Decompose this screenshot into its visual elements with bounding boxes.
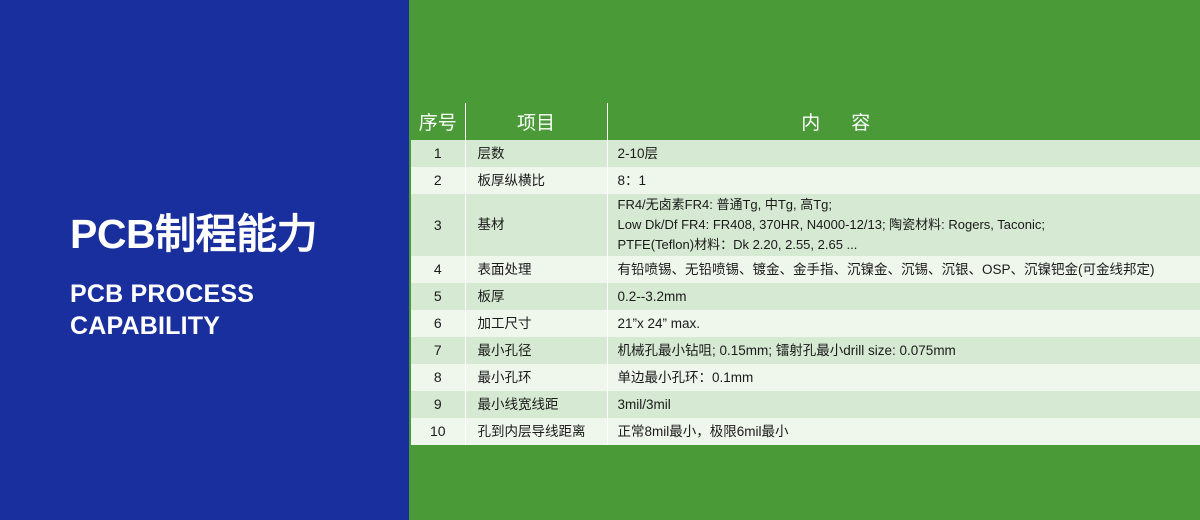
column-header-no: 序号 <box>411 103 465 140</box>
row-no: 9 <box>411 391 465 418</box>
row-no: 1 <box>411 140 465 167</box>
row-content: 21”x 24” max. <box>607 310 1200 337</box>
row-no: 7 <box>411 337 465 364</box>
table-row: 4 表面处理 有铅喷锡、无铅喷锡、镀金、金手指、沉镍金、沉锡、沉银、OSP、沉镍… <box>411 256 1200 283</box>
row-content: FR4/无卤素FR4: 普通Tg, 中Tg, 高Tg; Low Dk/Df FR… <box>607 194 1200 256</box>
row-item: 基材 <box>465 194 607 256</box>
row-item: 最小孔环 <box>465 364 607 391</box>
table-body: 1 层数 2-10层 2 板厚纵横比 8：1 3 基材 FR4/无卤素FR4: … <box>411 140 1200 445</box>
row-item: 层数 <box>465 140 607 167</box>
row-item: 孔到内层导线距离 <box>465 418 607 445</box>
left-blue-panel: PCB制程能力 PCB PROCESS CAPABILITY <box>0 0 409 520</box>
title-block: PCB制程能力 PCB PROCESS CAPABILITY <box>70 213 400 342</box>
row-item: 最小孔径 <box>465 337 607 364</box>
row-no: 4 <box>411 256 465 283</box>
row-no: 3 <box>411 194 465 256</box>
row-no: 10 <box>411 418 465 445</box>
row-item: 板厚纵横比 <box>465 167 607 194</box>
page-title: PCB制程能力 <box>70 213 400 256</box>
slide-canvas: PCB制程能力 PCB PROCESS CAPABILITY 序号 项目 内 容 <box>0 0 1200 520</box>
page-subtitle-line-1: PCB PROCESS <box>70 278 400 310</box>
table-header: 序号 项目 内 容 <box>411 103 1200 140</box>
row-content: 8：1 <box>607 167 1200 194</box>
row-no: 8 <box>411 364 465 391</box>
column-header-content: 内 容 <box>607 103 1200 140</box>
table-header-row: 序号 项目 内 容 <box>411 103 1200 140</box>
table-row: 6 加工尺寸 21”x 24” max. <box>411 310 1200 337</box>
row-no: 6 <box>411 310 465 337</box>
table-row: 5 板厚 0.2--3.2mm <box>411 283 1200 310</box>
table-row: 9 最小线宽线距 3mil/3mil <box>411 391 1200 418</box>
table-row: 3 基材 FR4/无卤素FR4: 普通Tg, 中Tg, 高Tg; Low Dk/… <box>411 194 1200 256</box>
row-content: 单边最小孔环：0.1mm <box>607 364 1200 391</box>
table-row: 1 层数 2-10层 <box>411 140 1200 167</box>
table-row: 8 最小孔环 单边最小孔环：0.1mm <box>411 364 1200 391</box>
row-item: 板厚 <box>465 283 607 310</box>
row-content: 正常8mil最小，极限6mil最小 <box>607 418 1200 445</box>
row-content: 机械孔最小钻咀; 0.15mm; 镭射孔最小drill size: 0.075m… <box>607 337 1200 364</box>
table-row: 7 最小孔径 机械孔最小钻咀; 0.15mm; 镭射孔最小drill size:… <box>411 337 1200 364</box>
column-header-content-label: 内 容 <box>608 108 1200 135</box>
row-content: 2-10层 <box>607 140 1200 167</box>
row-no: 2 <box>411 167 465 194</box>
row-item: 表面处理 <box>465 256 607 283</box>
pcb-capability-table: 序号 项目 内 容 1 层数 2-10层 2 板厚纵横比 8：1 3 <box>411 103 1200 445</box>
spec-table-container: 序号 项目 内 容 1 层数 2-10层 2 板厚纵横比 8：1 3 <box>411 103 1200 445</box>
row-content: 0.2--3.2mm <box>607 283 1200 310</box>
table-row: 10 孔到内层导线距离 正常8mil最小，极限6mil最小 <box>411 418 1200 445</box>
table-row: 2 板厚纵横比 8：1 <box>411 167 1200 194</box>
page-subtitle: PCB PROCESS CAPABILITY <box>70 278 400 342</box>
row-item: 加工尺寸 <box>465 310 607 337</box>
row-item: 最小线宽线距 <box>465 391 607 418</box>
row-content: 3mil/3mil <box>607 391 1200 418</box>
page-subtitle-line-2: CAPABILITY <box>70 310 400 342</box>
row-no: 5 <box>411 283 465 310</box>
row-content: 有铅喷锡、无铅喷锡、镀金、金手指、沉镍金、沉锡、沉银、OSP、沉镍钯金(可金线邦… <box>607 256 1200 283</box>
column-header-item: 项目 <box>465 103 607 140</box>
